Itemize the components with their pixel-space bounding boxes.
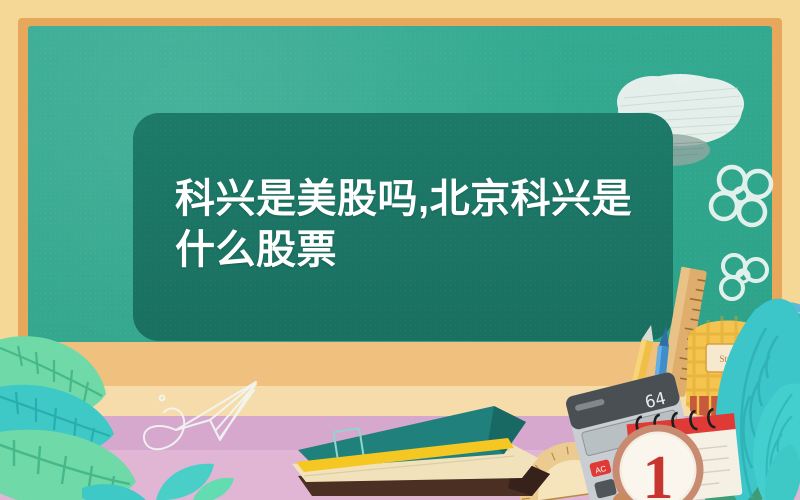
magnifying-glass[interactable]: 1 (592, 420, 722, 500)
leaves (760, 440, 800, 500)
cover-banner: 科兴是美股吗,北京科兴是什么股票 (0, 0, 800, 500)
stacked-books (282, 392, 562, 500)
magnifier-digit: 1 (643, 444, 674, 500)
page-title: 科兴是美股吗,北京科兴是什么股票 (175, 174, 645, 276)
flower-chalk-drawing (706, 158, 782, 238)
leaves (152, 452, 242, 500)
